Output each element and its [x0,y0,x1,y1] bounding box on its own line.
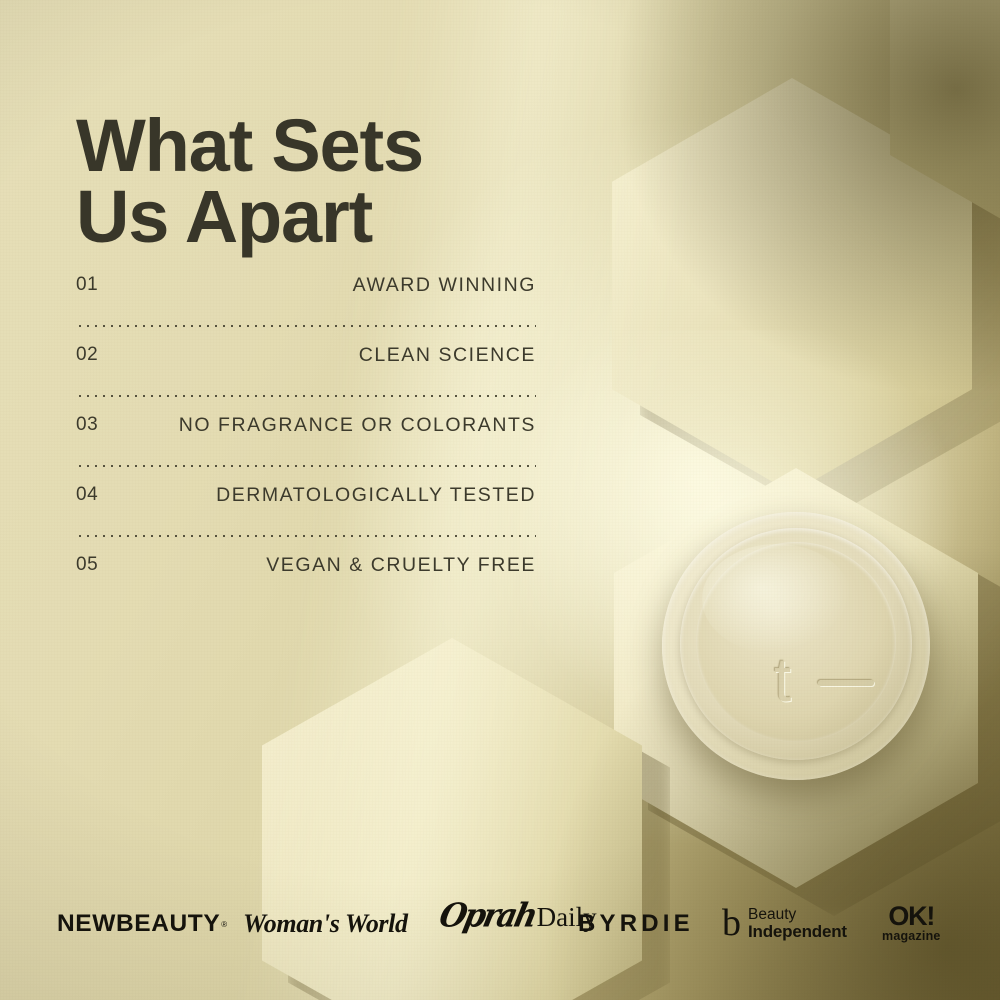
logo-beauty-independent: b Beauty Independent [722,898,847,950]
logo-womans-world: Woman's World [243,898,408,950]
logo-oprah-daily: OprahDaily [440,898,597,950]
press-logo-strip: NEWBEAUTY® Woman's World OprahDaily BYRD… [0,898,1000,950]
list-item: 02 CLEAN SCIENCE [76,338,536,384]
list-divider [76,524,536,548]
list-item-number: 01 [76,274,98,296]
list-item: 04 DERMATOLOGICALLY TESTED [76,478,536,524]
list-item-label: NO FRAGRANCE OR COLORANTS [179,414,536,437]
logo-womans-world-text: Woman's World [243,909,408,939]
list-item-label: CLEAN SCIENCE [359,344,536,367]
logo-byrdie-text: BYRDIE [578,910,694,938]
logo-newbeauty: NEWBEAUTY® [57,898,228,950]
list-divider [76,384,536,408]
trademark-icon: ® [221,920,228,929]
logo-byrdie: BYRDIE [578,898,694,950]
title-line-2: Us Apart [76,181,596,252]
logo-newbeauty-text: NEWBEAUTY [57,910,220,938]
list-item-number: 02 [76,344,98,366]
list-item-label: AWARD WINNING [353,274,536,297]
list-divider [76,314,536,338]
list-item-number: 04 [76,484,98,506]
list-item: 01 AWARD WINNING [76,268,536,314]
logo-beauty-line2: Independent [748,923,847,941]
promo-graphic: t What Sets Us Apart 01 AWARD WINNING 02… [0,0,1000,1000]
leaf-b-icon: b [722,908,741,938]
list-item-number: 03 [76,414,98,436]
list-item-number: 05 [76,554,98,576]
logo-ok-line1: OK! [888,904,934,928]
list-item: 05 VEGAN & CRUELTY FREE [76,548,536,594]
logo-ok-magazine: OK! magazine [882,898,941,950]
list-item-label: DERMATOLOGICALLY TESTED [216,484,536,507]
list-item: 03 NO FRAGRANCE OR COLORANTS [76,408,536,454]
logo-ok-line2: magazine [882,929,941,944]
page-title: What Sets Us Apart [76,110,596,252]
logo-beauty-line1: Beauty [748,907,847,923]
title-line-1: What Sets [76,110,596,181]
list-divider [76,454,536,478]
feature-list: 01 AWARD WINNING 02 CLEAN SCIENCE 03 NO … [76,268,536,594]
logo-oprah-script: Oprah [436,897,539,935]
list-item-label: VEGAN & CRUELTY FREE [266,554,536,577]
